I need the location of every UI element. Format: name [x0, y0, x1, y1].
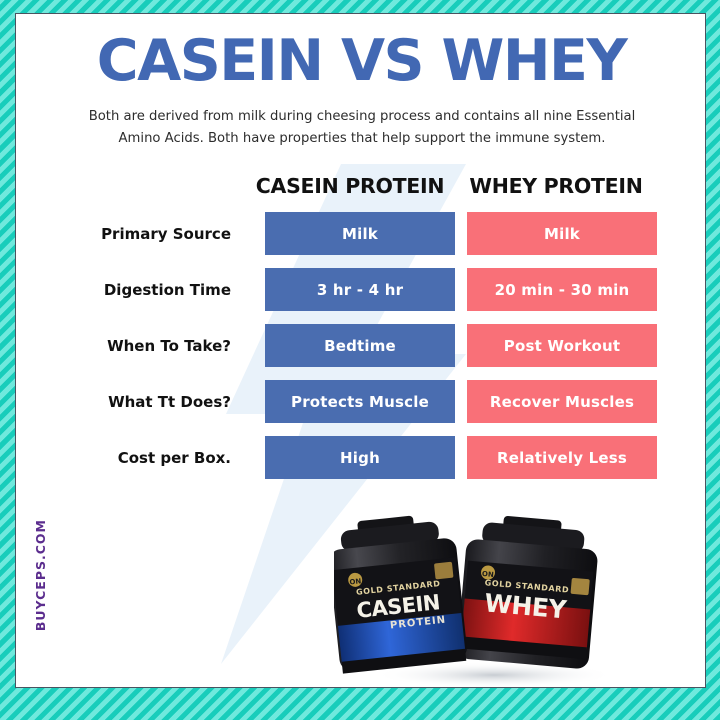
- cell-casein-when-to-take: Bedtime: [265, 324, 455, 367]
- page-subtitle: Both are derived from milk during cheesi…: [78, 106, 646, 150]
- row-label-primary-source: Primary Source: [16, 212, 248, 255]
- svg-text:ON: ON: [349, 577, 362, 586]
- table-row: When To Take? Bedtime Post Workout: [16, 324, 706, 380]
- cell-whey-when-to-take: Post Workout: [467, 324, 657, 367]
- row-label-digestion-time: Digestion Time: [16, 268, 248, 311]
- cell-casein-cost-per-box: High: [265, 436, 455, 479]
- row-label-when-to-take: When To Take?: [16, 324, 248, 367]
- brand-watermark: BUYCEPS.COM: [29, 519, 51, 659]
- table-column-headers: CASEIN PROTEIN WHEY PROTEIN: [16, 174, 706, 212]
- brand-watermark-label: BUYCEPS.COM: [33, 519, 48, 631]
- table-row: Cost per Box. High Relatively Less: [16, 436, 706, 492]
- table-rows: Primary Source Milk Milk Digestion Time …: [16, 212, 706, 492]
- cell-whey-what-it-does: Recover Muscles: [467, 380, 657, 423]
- cell-casein-digestion-time: 3 hr - 4 hr: [265, 268, 455, 311]
- striped-border-frame: BUYCEPS.COM CASEIN VS WHEY Both are deri…: [0, 0, 720, 720]
- page-title: CASEIN VS WHEY: [16, 32, 706, 92]
- cell-casein-what-it-does: Protects Muscle: [265, 380, 455, 423]
- cell-whey-primary-source: Milk: [467, 212, 657, 255]
- cell-casein-primary-source: Milk: [265, 212, 455, 255]
- infographic-card: BUYCEPS.COM CASEIN VS WHEY Both are deri…: [15, 13, 706, 688]
- cell-whey-digestion-time: 20 min - 30 min: [467, 268, 657, 311]
- column-header-casein: CASEIN PROTEIN: [250, 174, 450, 198]
- row-label-cost-per-box: Cost per Box.: [16, 436, 248, 479]
- comparison-table: CASEIN PROTEIN WHEY PROTEIN Primary Sour…: [16, 174, 706, 492]
- row-label-what-it-does: What Tt Does?: [16, 380, 248, 423]
- table-row: Digestion Time 3 hr - 4 hr 20 min - 30 m…: [16, 268, 706, 324]
- column-header-whey: WHEY PROTEIN: [456, 174, 656, 198]
- table-row: What Tt Does? Protects Muscle Recover Mu…: [16, 380, 706, 436]
- cell-whey-cost-per-box: Relatively Less: [467, 436, 657, 479]
- product-tubs-image: ON GOLD STANDARD WHEY ON GOLD STANDARD: [334, 499, 664, 688]
- table-row: Primary Source Milk Milk: [16, 212, 706, 268]
